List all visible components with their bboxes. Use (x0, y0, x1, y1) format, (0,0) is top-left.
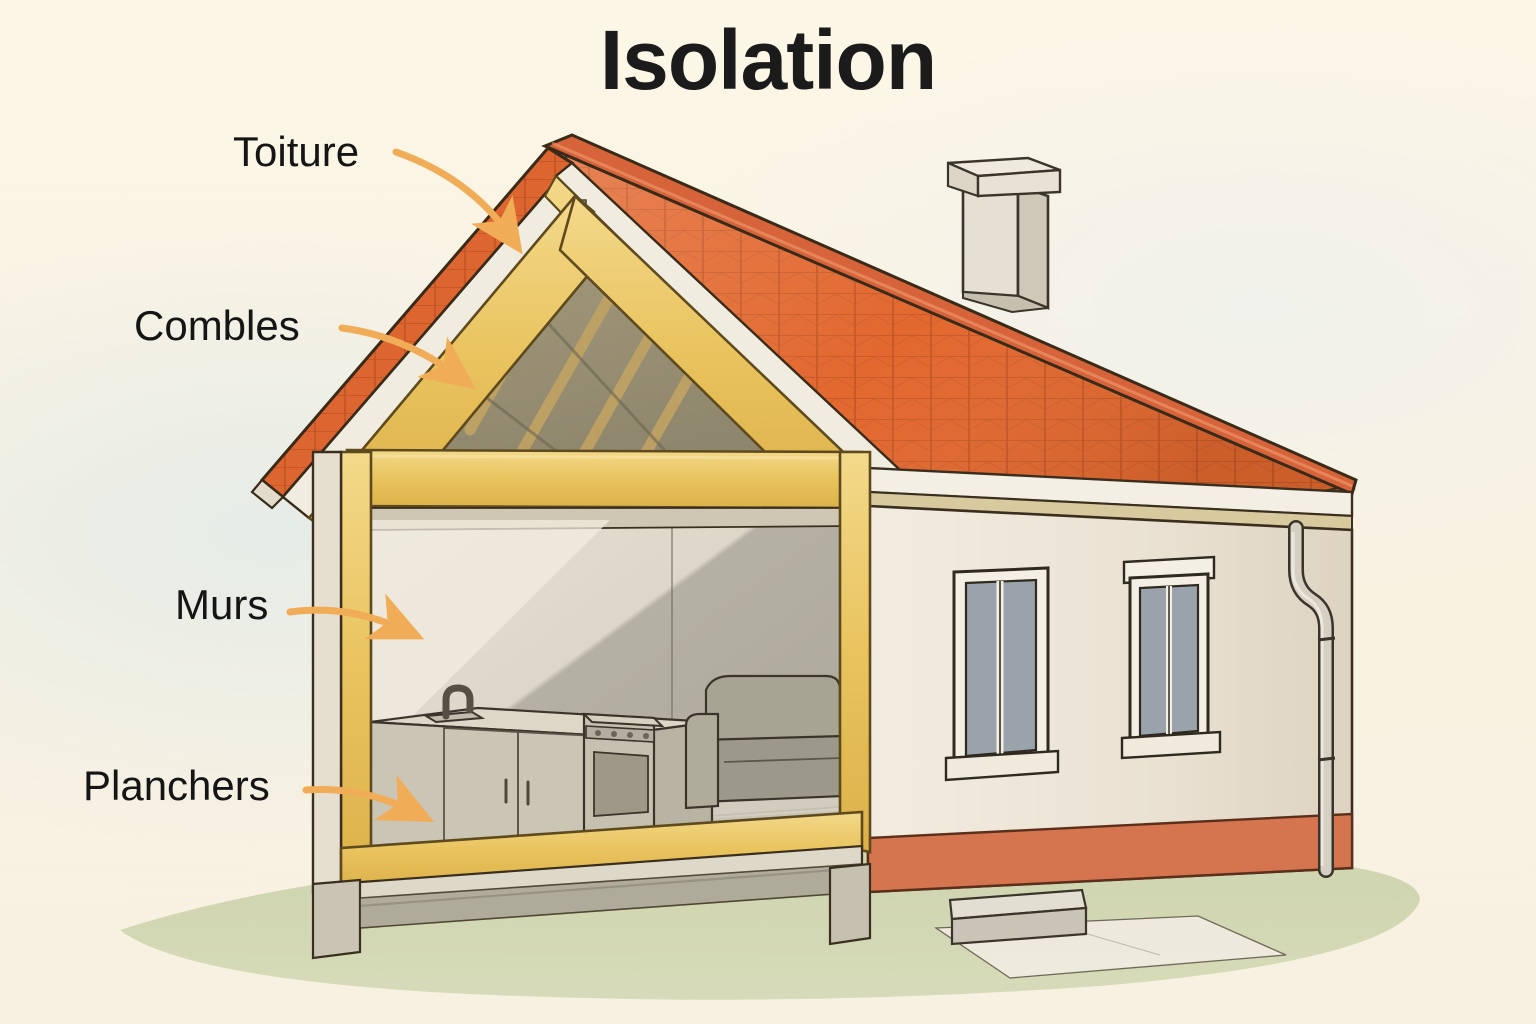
sofa-seat (700, 736, 844, 802)
window-left[interactable] (946, 568, 1058, 780)
sofa-arm-left (686, 714, 718, 808)
label-murs: Murs (175, 584, 268, 626)
right-facade (868, 468, 1352, 944)
wall-insulation-left (341, 452, 371, 884)
illustration-canvas: Isolation Toiture Combles Murs Planchers (0, 0, 1536, 1024)
sofa-backrest (706, 676, 840, 742)
chimney-body-front (963, 186, 1018, 296)
label-toiture: Toiture (233, 131, 359, 173)
wall-render-left-outer (313, 452, 341, 892)
door-step (950, 890, 1086, 944)
oven-door-window (594, 752, 648, 816)
chimney-cap-band (978, 170, 1060, 196)
oven-stove (584, 714, 662, 834)
gable-tie-beam-top-edge (350, 456, 860, 458)
foundation-left (313, 880, 360, 958)
label-planchers: Planchers (83, 765, 270, 807)
page-title: Isolation (0, 18, 1536, 102)
house-cutaway-illustration (0, 0, 1536, 1024)
downspout-bracket-2 (1318, 758, 1335, 760)
label-combles: Combles (134, 305, 300, 347)
window-right[interactable] (1122, 557, 1220, 758)
sofa (686, 676, 844, 808)
chimney-body-side (1018, 186, 1048, 308)
chimney (948, 158, 1060, 312)
window-right-sill (1122, 732, 1220, 758)
downspout-bracket-1 (1318, 638, 1335, 640)
wall-insulation-right (840, 452, 870, 852)
foundation-right (830, 864, 870, 944)
